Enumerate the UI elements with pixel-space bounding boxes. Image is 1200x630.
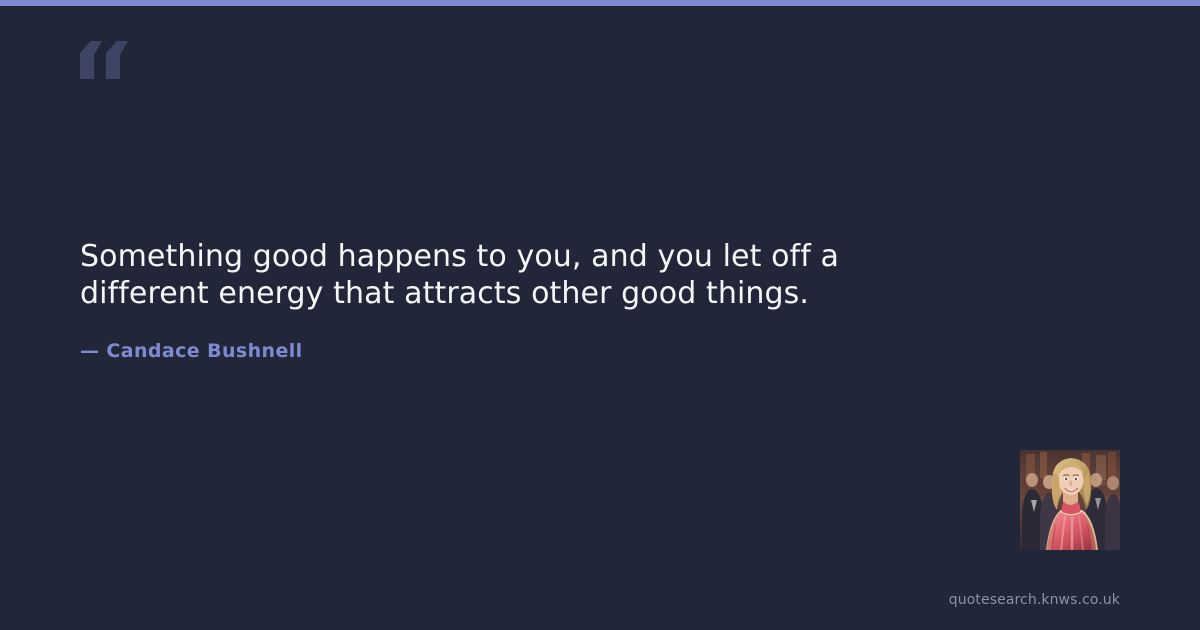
quote-block: Something good happens to you, and you l… bbox=[80, 238, 980, 312]
quote-author: — Candace Bushnell bbox=[80, 340, 303, 362]
open-quote-icon bbox=[80, 41, 130, 79]
source-url: quotesearch.knws.co.uk bbox=[949, 592, 1120, 608]
top-accent-rule bbox=[0, 0, 1200, 6]
quote-card: Something good happens to you, and you l… bbox=[0, 0, 1200, 630]
quote-text: Something good happens to you, and you l… bbox=[80, 238, 980, 312]
author-photo bbox=[1020, 450, 1120, 550]
